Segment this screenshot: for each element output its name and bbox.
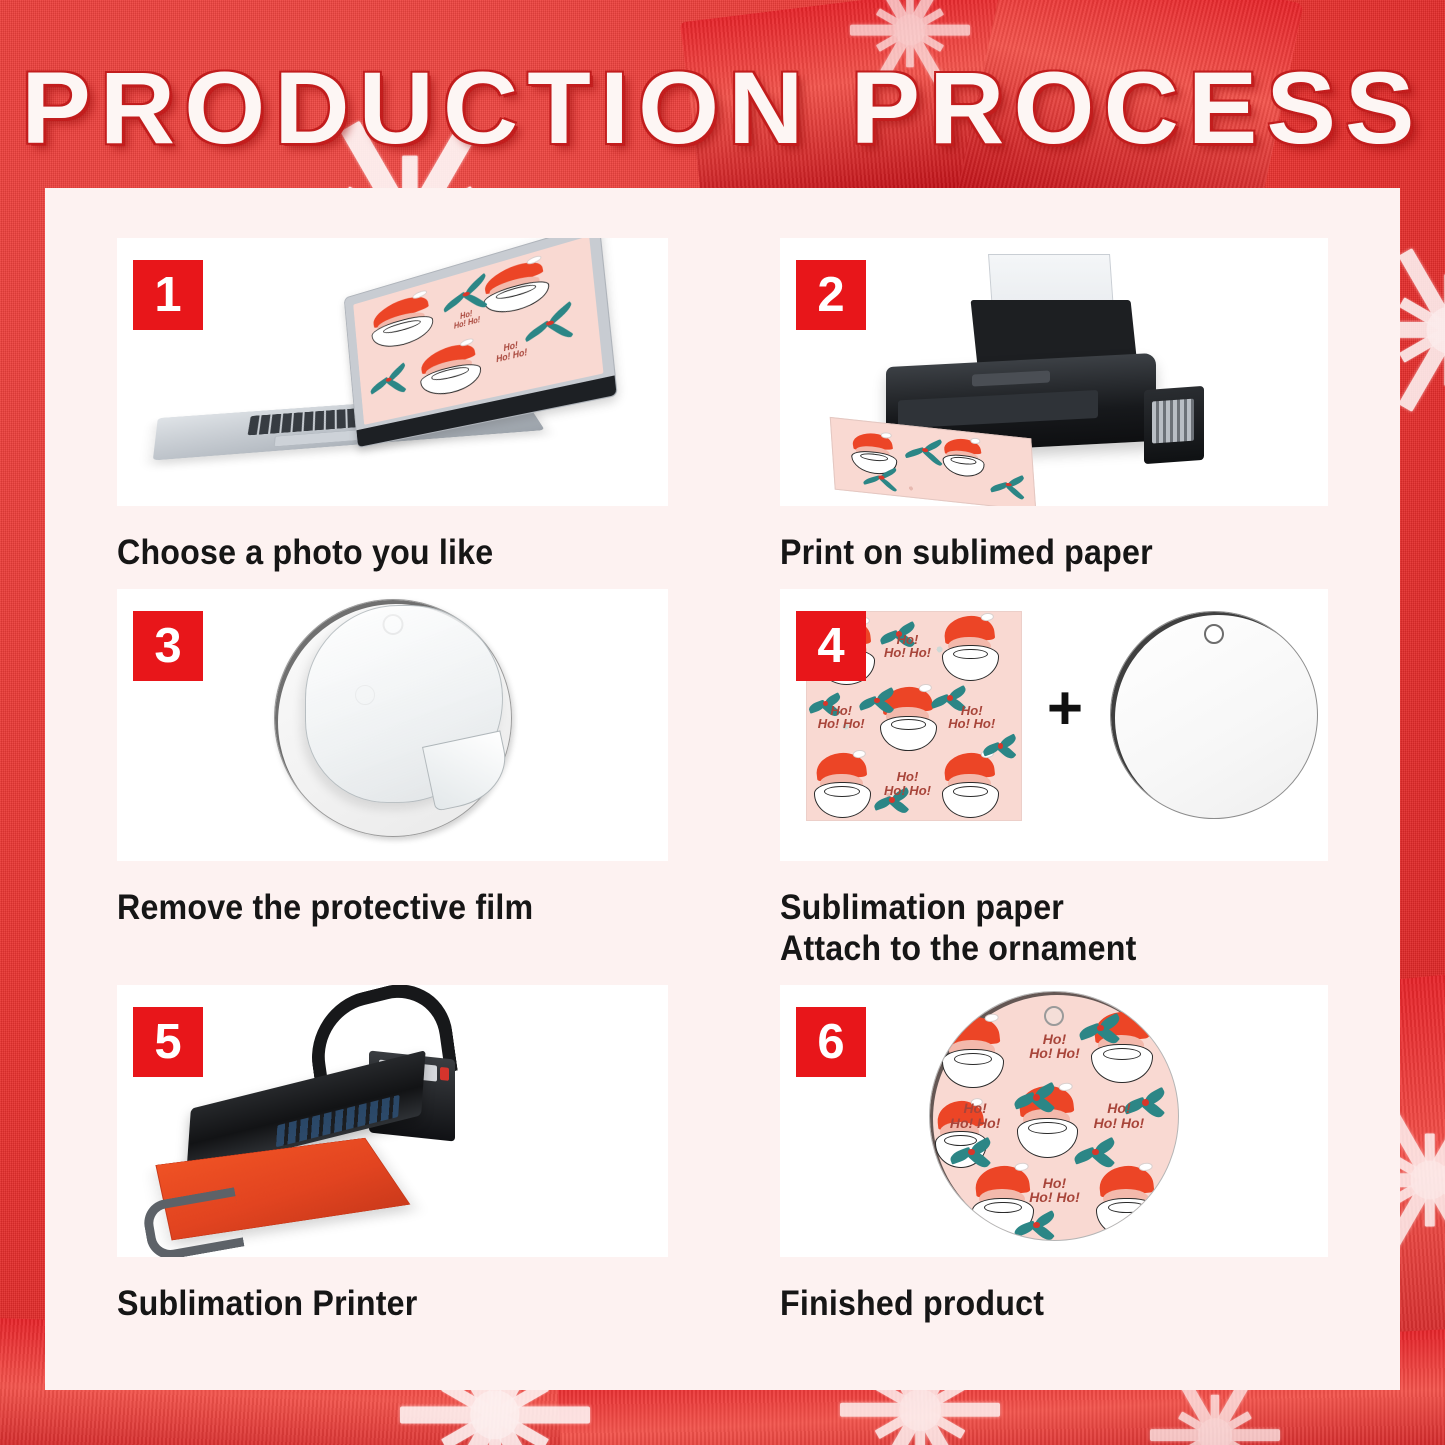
step-1-image-card: 1 Ho!	[117, 238, 668, 506]
step-3-number-badge: 3	[133, 611, 203, 681]
step-1-caption: Choose a photo you like	[117, 532, 624, 573]
printer-output-slot	[898, 390, 1098, 428]
pattern-greeting-text: Ho! Ho! Ho!	[948, 704, 995, 731]
step-3-image-card: 3	[117, 589, 668, 861]
step-1-number-badge: 1	[133, 260, 203, 330]
disc-hanging-hole	[1204, 624, 1224, 644]
step-2: 2	[780, 238, 1328, 589]
step-3-caption: Remove the protective film	[117, 887, 624, 928]
step-4-image-card: 4 Ho! Ho! Ho!	[780, 589, 1328, 861]
press-base-grip	[141, 1187, 245, 1257]
page-title: PRODUCTION PROCESS	[0, 52, 1445, 164]
protective-film	[305, 605, 503, 803]
step-2-number-badge: 2	[796, 260, 866, 330]
step-2-caption: Print on sublimed paper	[780, 532, 1284, 573]
laptop-illustration: Ho! Ho! Ho! Ho! Ho! Ho!	[153, 256, 633, 488]
pattern-greeting-text: Ho! Ho! Ho!	[1029, 1176, 1080, 1205]
step-5-number-badge: 5	[133, 1007, 203, 1077]
pattern-greeting-text: Ho! Ho! Ho!	[1029, 1032, 1080, 1061]
pattern-greeting-text: Ho! Ho! Ho!	[1094, 1101, 1145, 1130]
step-4-caption: Sublimation paper Attach to the ornament	[780, 887, 1284, 969]
plus-symbol: +	[1042, 687, 1088, 733]
step-6: 6	[780, 985, 1328, 1340]
finished-ornament: Ho! Ho! Ho! Ho! Ho! Ho! Ho! Ho! Ho! Ho! …	[929, 991, 1179, 1241]
printer-ink-tank	[1144, 386, 1204, 464]
step-5: 5 Sublimation Printer	[117, 985, 668, 1340]
production-process-panel: 1 Ho!	[45, 188, 1400, 1390]
ornament-hanging-hole	[1044, 1006, 1064, 1026]
blank-ornament-disc	[1110, 611, 1318, 819]
step-5-caption: Sublimation Printer	[117, 1283, 624, 1324]
step-5-image-card: 5	[117, 985, 668, 1257]
step-4-number-badge: 4	[796, 611, 866, 681]
pattern-greeting-text: Ho! Ho! Ho!	[950, 1101, 1001, 1130]
pattern-greeting-text: Ho! Ho! Ho!	[818, 704, 865, 731]
step-2-image-card: 2	[780, 238, 1328, 506]
step-4: 4 Ho! Ho! Ho!	[780, 589, 1328, 985]
step-6-image-card: 6	[780, 985, 1328, 1257]
printer-control-panel	[972, 370, 1050, 386]
pattern-greeting-text: Ho! Ho! Ho!	[884, 633, 931, 660]
pattern-greeting-text: Ho! Ho! Ho!	[884, 770, 931, 797]
step-3: 3 Remove the protective film	[117, 589, 668, 985]
step-6-caption: Finished product	[780, 1283, 1284, 1324]
pattern-greeting-text: Ho! Ho! Ho!	[453, 308, 481, 332]
printer-illustration	[824, 252, 1294, 492]
film-peel-corner	[422, 730, 514, 811]
heat-press-illustration	[137, 989, 607, 1251]
step-6-number-badge: 6	[796, 1007, 866, 1077]
laptop-lid: Ho! Ho! Ho! Ho! Ho! Ho!	[344, 238, 618, 448]
step-1: 1 Ho!	[117, 238, 668, 589]
pattern-greeting-text: Ho! Ho! Ho!	[495, 339, 528, 366]
